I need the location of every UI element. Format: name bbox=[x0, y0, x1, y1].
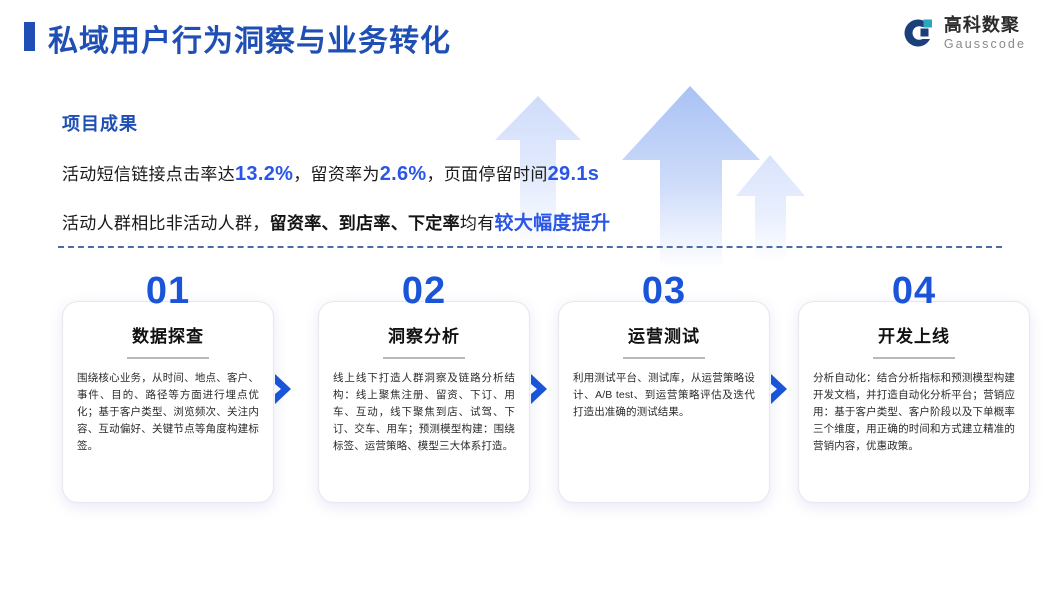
slide-root: 私域用户行为洞察与业务转化 高科数聚 Gausscode 项目成果 活动短信链接… bbox=[0, 0, 1048, 591]
results-line1-seg3: ，页面停留时间 bbox=[427, 165, 548, 184]
results-line2-seg1: 活动人群相比非活动人群， bbox=[62, 214, 270, 233]
chevron-right-icon-3 bbox=[768, 372, 790, 406]
step-number-01: 01 bbox=[62, 272, 274, 310]
results-line1-seg1: 活动短信链接点击率达 bbox=[62, 165, 235, 184]
page-title: 私域用户行为洞察与业务转化 bbox=[48, 16, 451, 60]
brand-logo: 高科数聚 Gausscode bbox=[901, 16, 1026, 51]
step-description-04: 分析自动化：结合分析指标和预测模型构建开发文档，并打造自动化分析平台；营销应用：… bbox=[813, 370, 1015, 455]
results-line2-emphasis-metrics: 留资率、到店率、下定率 bbox=[270, 214, 460, 233]
step-number-04: 04 bbox=[798, 272, 1030, 310]
step-description-03: 利用测试平台、测试库，从运营策略设计、A/B test、到运营策略评估及迭代打造… bbox=[573, 370, 755, 421]
step-number-02: 02 bbox=[318, 272, 530, 310]
results-line-1: 活动短信链接点击率达13.2%，留资率为2.6%，页面停留时间29.1s bbox=[62, 160, 762, 186]
process-steps: 01 数据探查 围绕核心业务，从时间、地点、客户、事件、目的、路径等方面进行埋点… bbox=[0, 272, 1048, 532]
results-line-2: 活动人群相比非活动人群，留资率、到店率、下定率均有较大幅度提升 bbox=[62, 208, 762, 235]
step-rule-01 bbox=[127, 357, 209, 359]
step-description-02: 线上线下打造人群洞察及链路分析结构：线上聚焦注册、留资、下订、用车、互动，线下聚… bbox=[333, 370, 515, 455]
step-card-body-04[interactable]: 开发上线 分析自动化：结合分析指标和预测模型构建开发文档，并打造自动化分析平台；… bbox=[798, 301, 1030, 503]
step-description-01: 围绕核心业务，从时间、地点、客户、事件、目的、路径等方面进行埋点优化；基于客户类… bbox=[77, 370, 259, 455]
gausscode-logo-icon bbox=[901, 16, 935, 50]
project-results-block: 项目成果 活动短信链接点击率达13.2%，留资率为2.6%，页面停留时间29.1… bbox=[62, 110, 762, 257]
title-accent-marker bbox=[24, 22, 35, 51]
step-rule-03 bbox=[623, 357, 705, 359]
chevron-right-icon-1 bbox=[272, 372, 294, 406]
step-rule-04 bbox=[873, 357, 955, 359]
metric-dwell-time: 29.1s bbox=[548, 163, 600, 185]
logo-name-en: Gausscode bbox=[944, 38, 1026, 51]
step-number-03: 03 bbox=[558, 272, 770, 310]
results-line2-seg2: 均有 bbox=[460, 214, 495, 233]
section-divider bbox=[58, 246, 1002, 248]
step-title-03: 运营测试 bbox=[559, 322, 769, 347]
step-rule-02 bbox=[383, 357, 465, 359]
page-header: 私域用户行为洞察与业务转化 高科数聚 Gausscode bbox=[0, 0, 1048, 78]
metric-click-rate: 13.2% bbox=[235, 163, 293, 185]
step-card-body-01[interactable]: 数据探查 围绕核心业务，从时间、地点、客户、事件、目的、路径等方面进行埋点优化；… bbox=[62, 301, 274, 503]
logo-name-cn: 高科数聚 bbox=[944, 16, 1026, 34]
metric-lead-rate: 2.6% bbox=[380, 163, 427, 185]
step-card-body-03[interactable]: 运营测试 利用测试平台、测试库，从运营策略设计、A/B test、到运营策略评估… bbox=[558, 301, 770, 503]
results-line1-seg2: ，留资率为 bbox=[293, 165, 380, 184]
chevron-right-icon-2 bbox=[528, 372, 550, 406]
results-line2-emphasis-uplift: 较大幅度提升 bbox=[495, 213, 611, 234]
step-card-body-02[interactable]: 洞察分析 线上线下打造人群洞察及链路分析结构：线上聚焦注册、留资、下订、用车、互… bbox=[318, 301, 530, 503]
step-title-02: 洞察分析 bbox=[319, 322, 529, 347]
step-title-01: 数据探查 bbox=[63, 322, 273, 347]
results-heading: 项目成果 bbox=[62, 110, 762, 136]
step-title-04: 开发上线 bbox=[799, 322, 1029, 347]
